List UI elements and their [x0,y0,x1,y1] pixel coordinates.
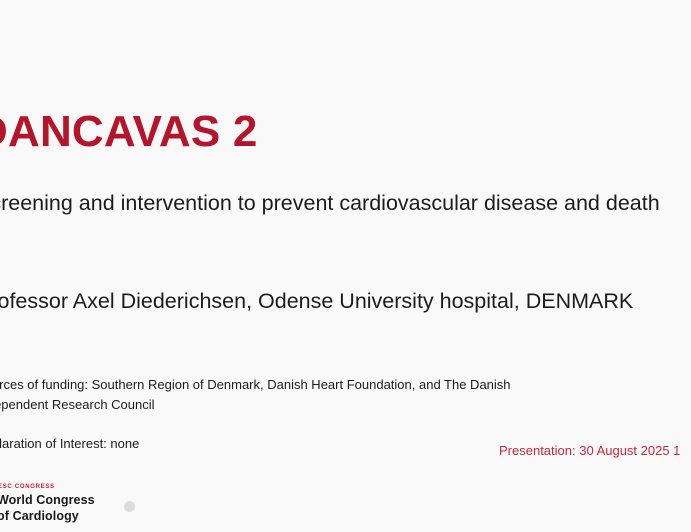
declaration-of-interest: Declaration of Interest: none [0,436,139,451]
logo-line-2: of Cardiology [0,510,79,523]
logo-line-1: World Congress [0,494,95,507]
slide-canvas: DANCAVAS 2 Screening and intervention to… [0,0,691,532]
funding-sources: Sources of funding: Southern Region of D… [0,375,616,415]
presentation-datetime: Presentation: 30 August 2025 1 [499,443,680,458]
funding-line-1: Sources of funding: Southern Region of D… [0,375,616,395]
logo-dot [124,501,135,512]
funding-line-2: Independent Research Council [0,395,616,415]
slide-subtitle: Screening and intervention to prevent ca… [0,191,660,217]
logo-eyebrow-text: ESC CONGRESS [0,484,55,490]
slide-title: DANCAVAS 2 [0,108,258,156]
slide-author: Professor Axel Diederichsen, Odense Univ… [0,289,633,315]
congress-logo: ESC CONGRESS World Congress of Cardiolog… [0,484,136,530]
